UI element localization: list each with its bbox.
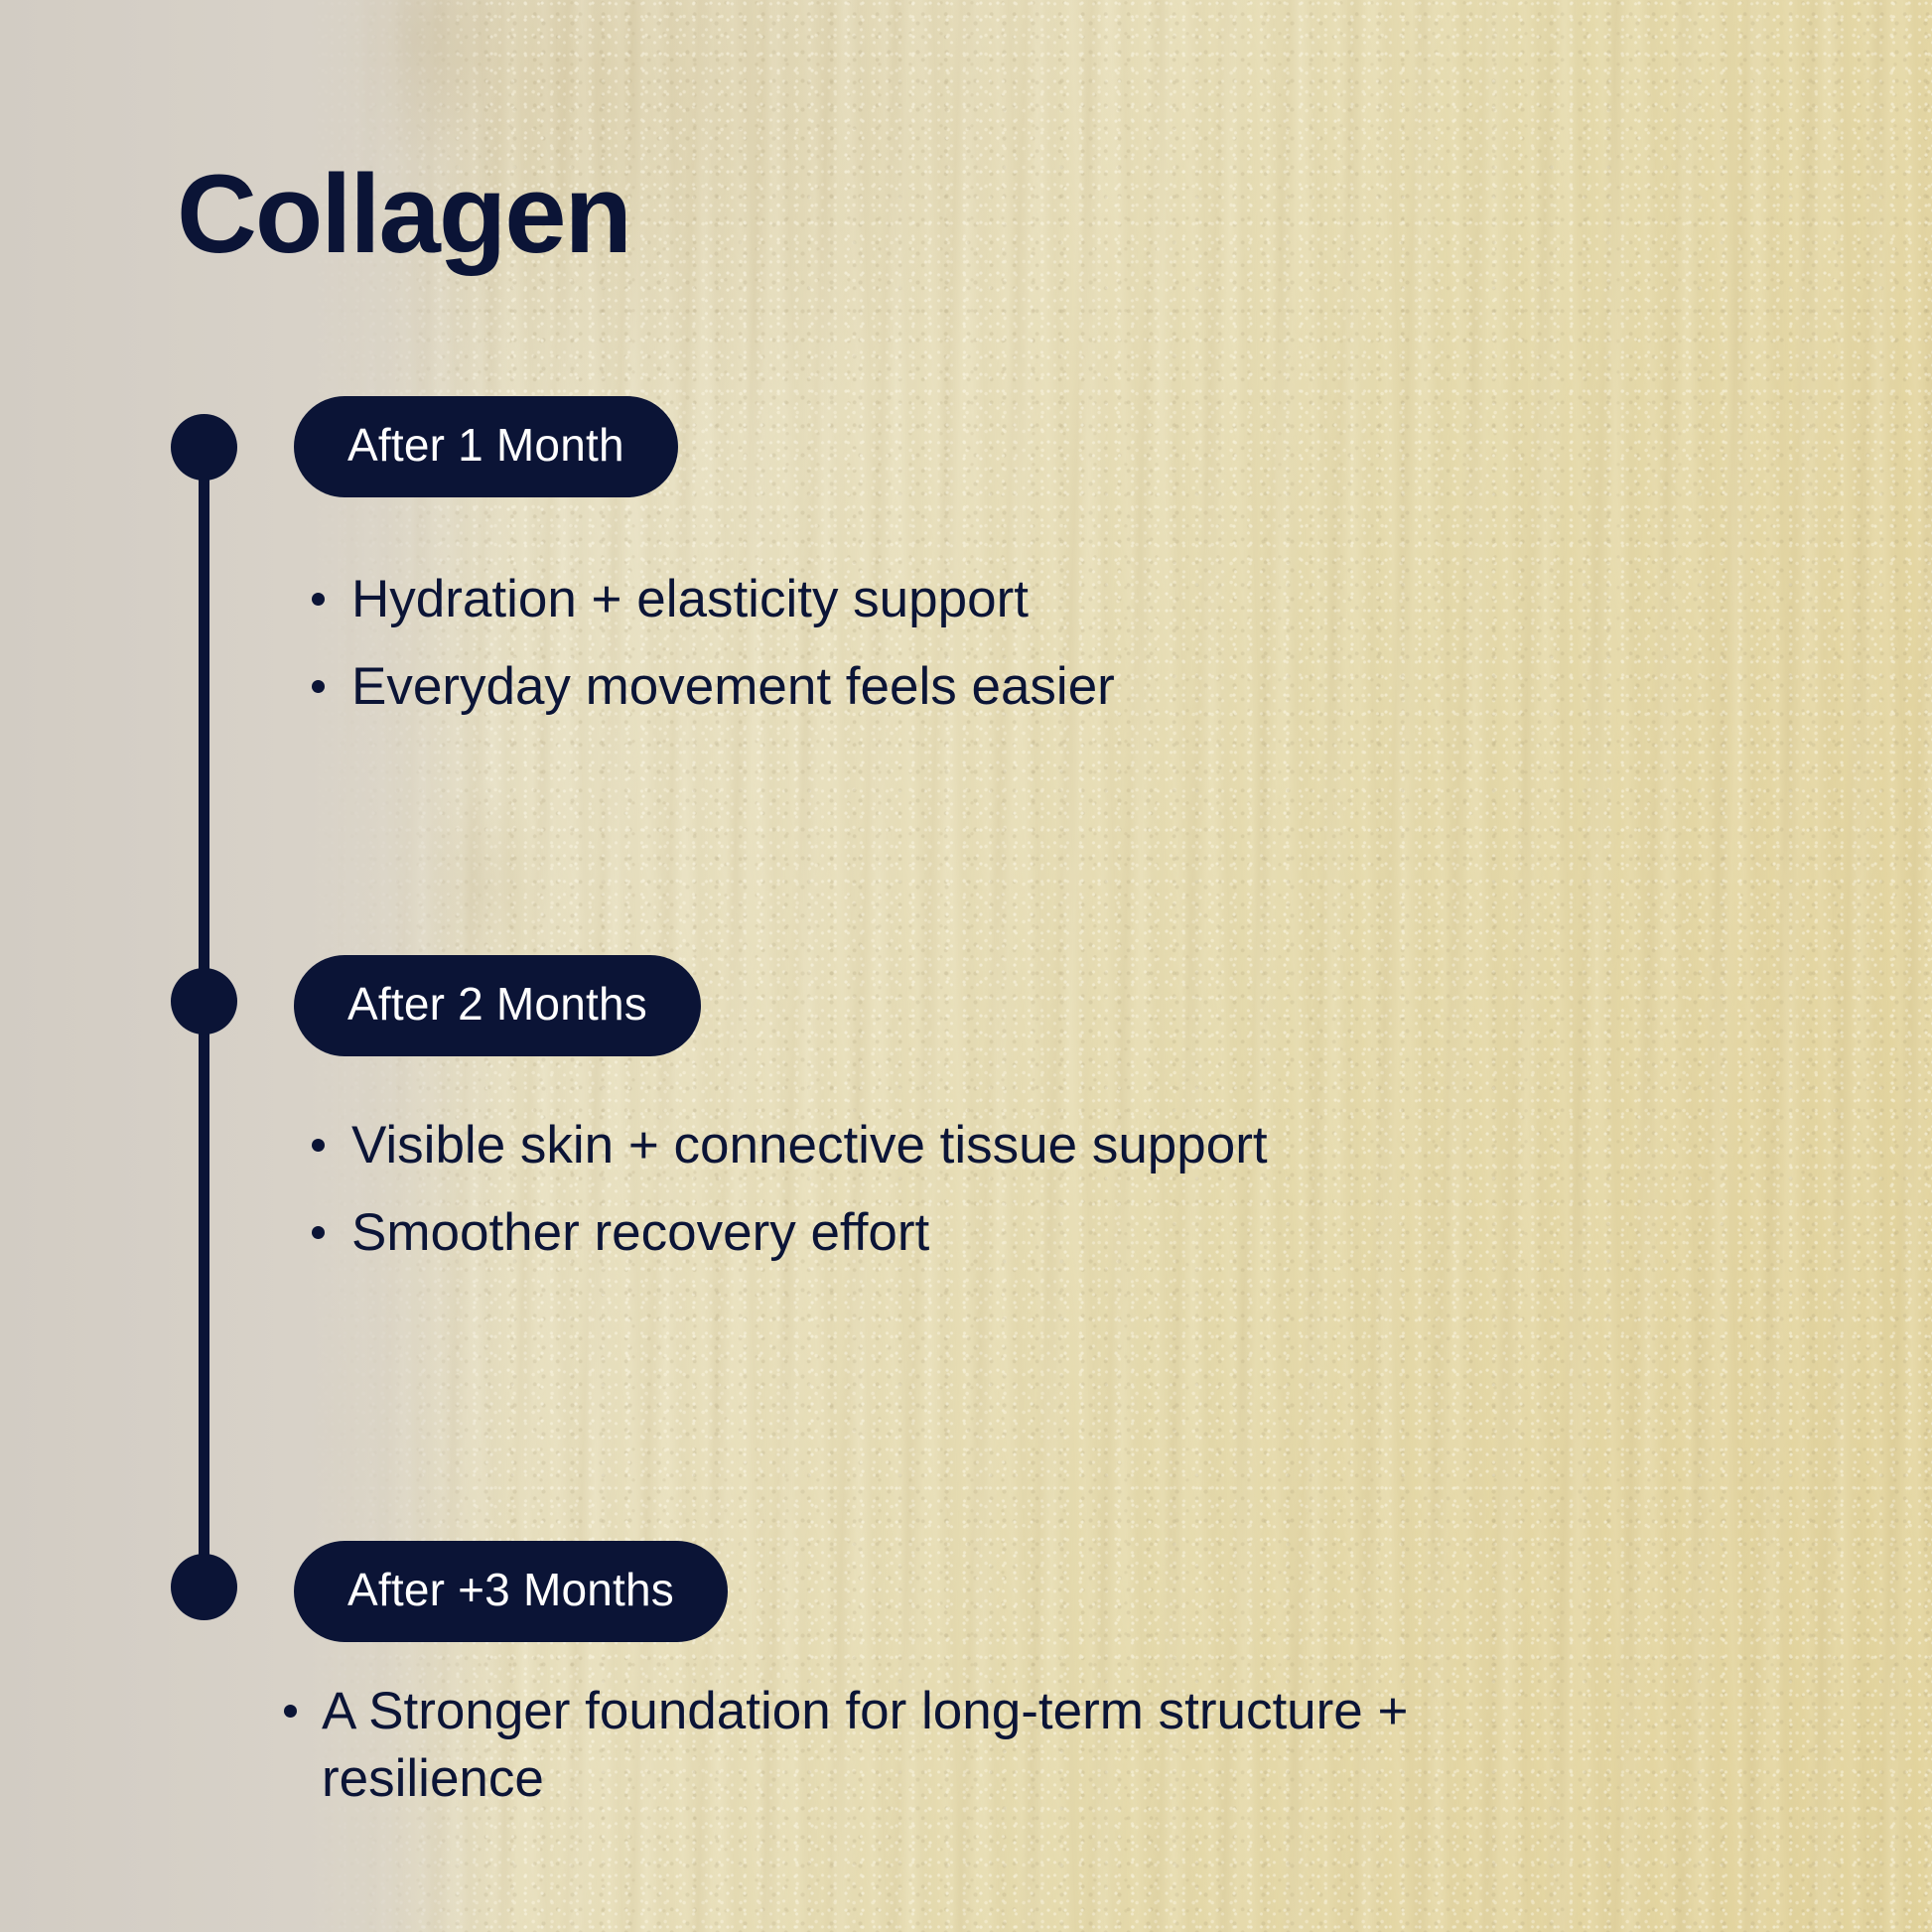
timeline-dot-stage-1 (171, 414, 237, 481)
stage-1-bullet-1-text: Hydration + elasticity support (351, 570, 1029, 628)
list-item: A Stronger foundation for long-term stru… (270, 1678, 1590, 1813)
stage-3-bullet-1-text: A Stronger foundation for long-term stru… (322, 1682, 1408, 1808)
timeline-dot-stage-2 (171, 968, 237, 1035)
list-item: Everyday movement feels easier (298, 653, 1469, 721)
stage-2-bullet-1-text: Visible skin + connective tissue support (351, 1116, 1268, 1174)
stage-3-pill: After +3 Months (294, 1541, 728, 1642)
stage-2-bullet-2-text: Smoother recovery effort (351, 1203, 929, 1262)
stage-1-pill: After 1 Month (294, 396, 678, 497)
infographic-canvas: Collagen After 1 Month Hydration + elast… (0, 0, 1932, 1932)
stage-2-pill: After 2 Months (294, 955, 701, 1056)
list-item: Smoother recovery effort (298, 1199, 1569, 1267)
stage-2-bullet-list: Visible skin + connective tissue support… (298, 1112, 1569, 1287)
timeline-dot-stage-3 (171, 1554, 237, 1620)
stage-1-bullet-list: Hydration + elasticity support Everyday … (298, 566, 1469, 741)
list-item: Hydration + elasticity support (298, 566, 1469, 633)
page-title: Collagen (177, 159, 630, 270)
stage-1-bullet-2-text: Everyday movement feels easier (351, 657, 1115, 716)
list-item: Visible skin + connective tissue support (298, 1112, 1569, 1179)
stage-3-bullet-list: A Stronger foundation for long-term stru… (270, 1678, 1590, 1833)
content-layer: Collagen After 1 Month Hydration + elast… (0, 0, 1932, 1932)
